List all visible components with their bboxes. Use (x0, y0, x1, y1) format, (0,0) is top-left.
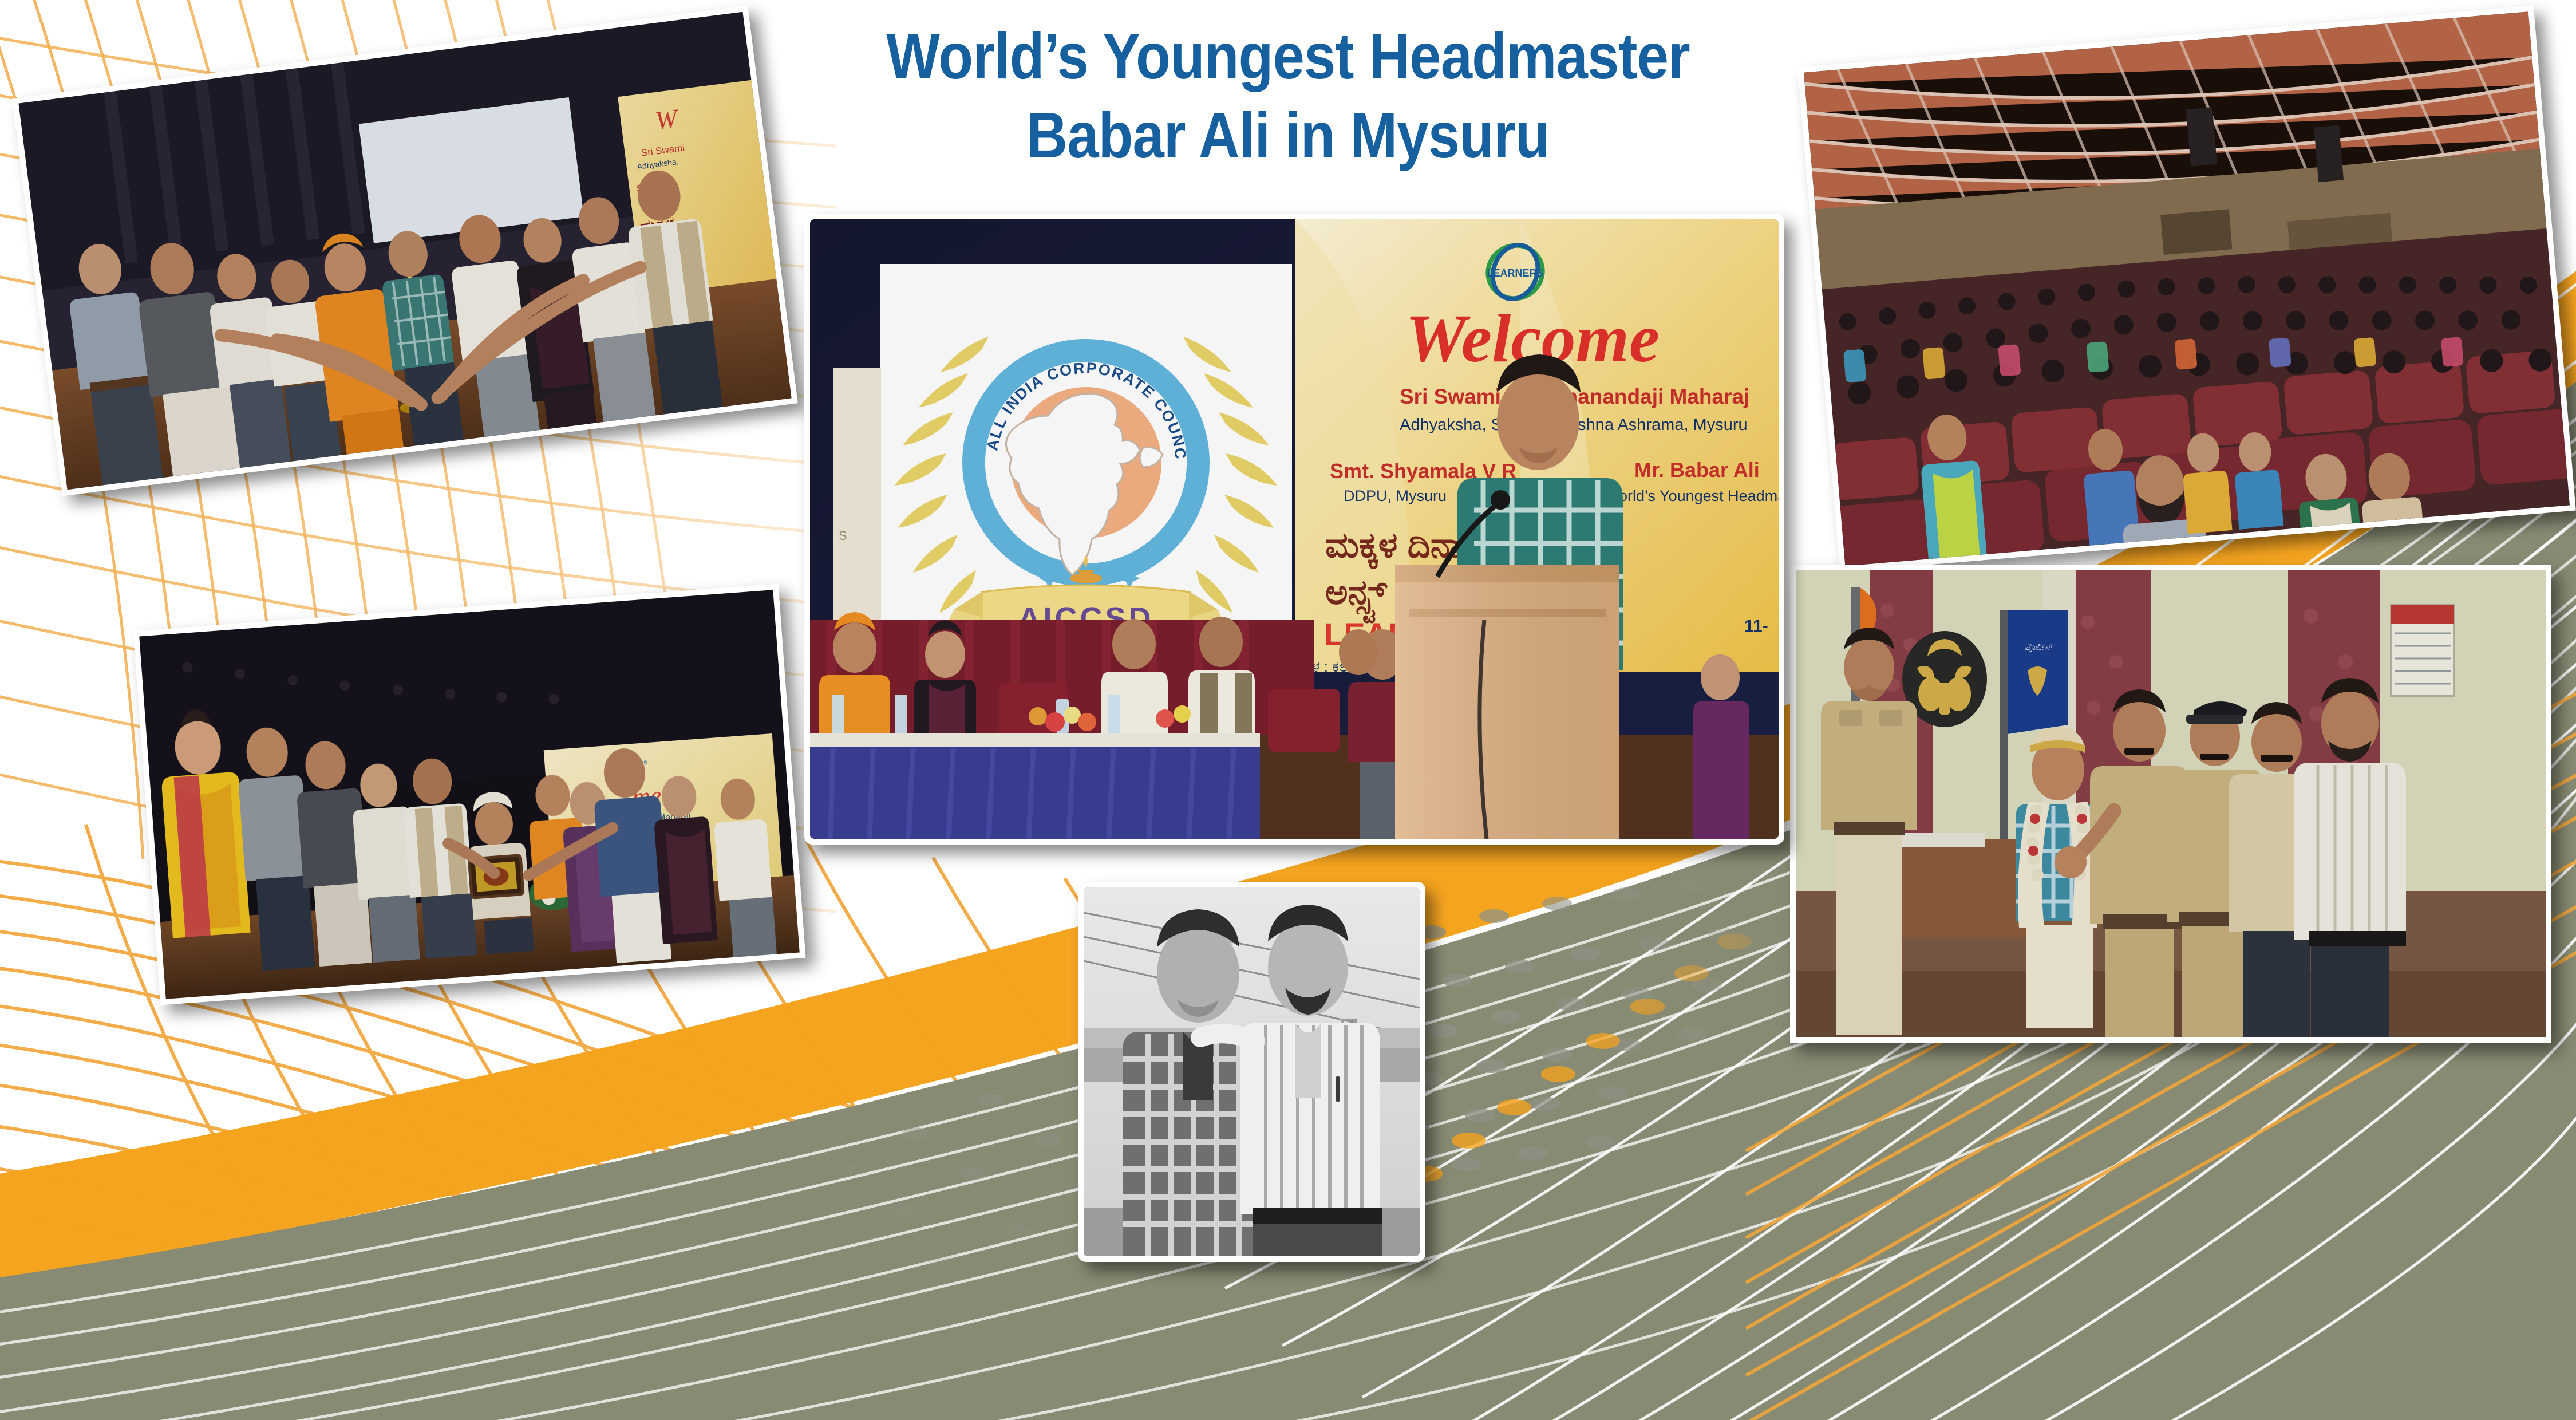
poster-title: World’s Youngest Headmaster Babar Ali in… (733, 17, 1843, 175)
photo-lamp-lighting[interactable]: W Sri Swami Adhyaksha, Shyamala PU, Mysu… (12, 6, 798, 496)
photo-main-stage-image: ALL INDIA CORPORATE COUNCIL FOR SKILL DE… (810, 219, 1779, 839)
photo-main-stage[interactable]: ALL INDIA CORPORATE COUNCIL FOR SKILL DE… (804, 214, 1784, 845)
photo-audience[interactable] (1797, 6, 2576, 573)
photo-captions: Row of dignitaries including a saffron-r… (0, 0, 1, 1)
title-line-2: Babar Ali in Mysuru (799, 96, 1776, 175)
photo-police-office-image: ಪೊಲೀಸ್ (1796, 570, 2546, 1037)
photo-audience-image (1804, 11, 2570, 566)
photo-police-office[interactable]: ಪೊಲೀಸ್ (1790, 565, 2551, 1043)
photo-felicitation[interactable]: LEARNERS me i Maharaj Mysuru Bab (133, 583, 806, 1005)
photo-duo-portrait[interactable] (1078, 882, 1425, 1262)
photo-felicitation-image: LEARNERS me i Maharaj Mysuru Bab (139, 590, 800, 999)
poster-canvas: World’s Youngest Headmaster Babar Ali in… (0, 0, 2576, 1420)
photo-duo-portrait-image (1084, 888, 1420, 1256)
photo-lamp-lighting-image: W Sri Swami Adhyaksha, Shyamala PU, Mysu… (18, 12, 791, 490)
title-line-1: World’s Youngest Headmaster (799, 17, 1776, 96)
